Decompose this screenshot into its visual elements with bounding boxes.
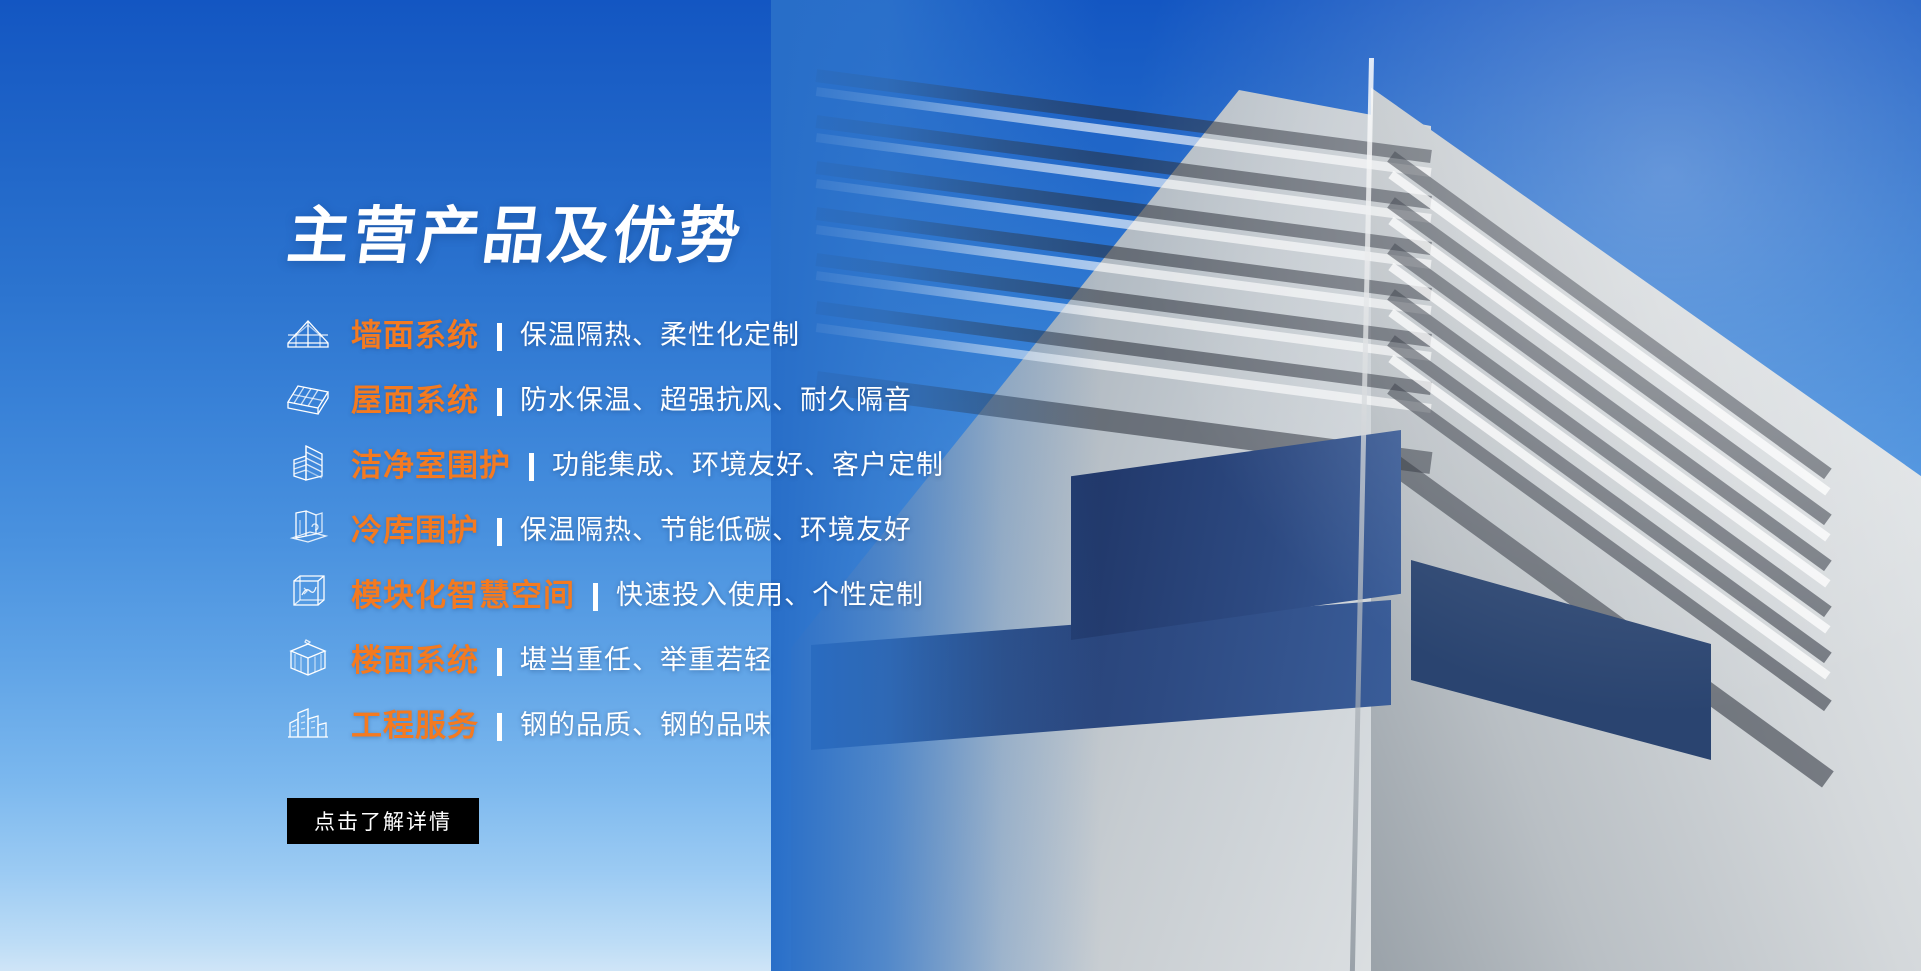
feature-separator	[497, 648, 502, 676]
feature-title: 模块化智慧空间	[351, 570, 575, 615]
feature-description: 堪当重任、举重若轻	[520, 638, 772, 677]
page-title: 主营产品及优势	[284, 205, 747, 267]
hero-banner: 主营产品及优势 墙面系统 保温隔热、柔性化定制	[0, 0, 1921, 971]
feature-title: 洁净室围护	[351, 440, 511, 485]
cold-storage-enclosure-icon	[285, 506, 331, 550]
feature-title: 屋面系统	[351, 375, 479, 420]
feature-title: 墙面系统	[351, 310, 479, 355]
learn-more-button[interactable]: 点击了解详情	[287, 798, 479, 844]
feature-separator	[529, 453, 534, 481]
feature-separator	[497, 388, 502, 416]
feature-item-modular-smart-space[interactable]: 模块化智慧空间 快速投入使用、个性定制	[285, 560, 1105, 625]
feature-separator	[497, 323, 502, 351]
feature-separator	[497, 713, 502, 741]
feature-description: 保温隔热、节能低碳、环境友好	[520, 508, 912, 547]
feature-description: 快速投入使用、个性定制	[616, 573, 924, 612]
engineering-service-icon	[285, 701, 331, 745]
feature-item-floor-system[interactable]: 楼面系统 堪当重任、举重若轻	[285, 625, 1105, 690]
feature-description: 保温隔热、柔性化定制	[520, 313, 800, 352]
feature-list: 墙面系统 保温隔热、柔性化定制 屋面系统 防水保温	[285, 300, 1105, 755]
roof-system-icon	[285, 376, 331, 420]
feature-item-cold-storage-enclosure[interactable]: 冷库围护 保温隔热、节能低碳、环境友好	[285, 495, 1105, 560]
feature-separator	[497, 518, 502, 546]
feature-description: 钢的品质、钢的品味	[520, 703, 772, 742]
modular-smart-space-icon	[285, 571, 331, 615]
wall-system-icon	[285, 311, 331, 355]
feature-title: 冷库围护	[351, 505, 479, 550]
feature-item-engineering-service[interactable]: 工程服务 钢的品质、钢的品味	[285, 690, 1105, 755]
hero-content: 主营产品及优势 墙面系统 保温隔热、柔性化定制	[0, 0, 1150, 971]
feature-separator	[593, 583, 598, 611]
feature-item-cleanroom-enclosure[interactable]: 洁净室围护 功能集成、环境友好、客户定制	[285, 430, 1105, 495]
cleanroom-enclosure-icon	[285, 441, 331, 485]
feature-item-wall-system[interactable]: 墙面系统 保温隔热、柔性化定制	[285, 300, 1105, 365]
feature-description: 防水保温、超强抗风、耐久隔音	[520, 378, 912, 417]
feature-description: 功能集成、环境友好、客户定制	[552, 443, 944, 482]
feature-title: 楼面系统	[351, 635, 479, 680]
feature-item-roof-system[interactable]: 屋面系统 防水保温、超强抗风、耐久隔音	[285, 365, 1105, 430]
floor-system-icon	[285, 636, 331, 680]
feature-title: 工程服务	[351, 700, 479, 745]
